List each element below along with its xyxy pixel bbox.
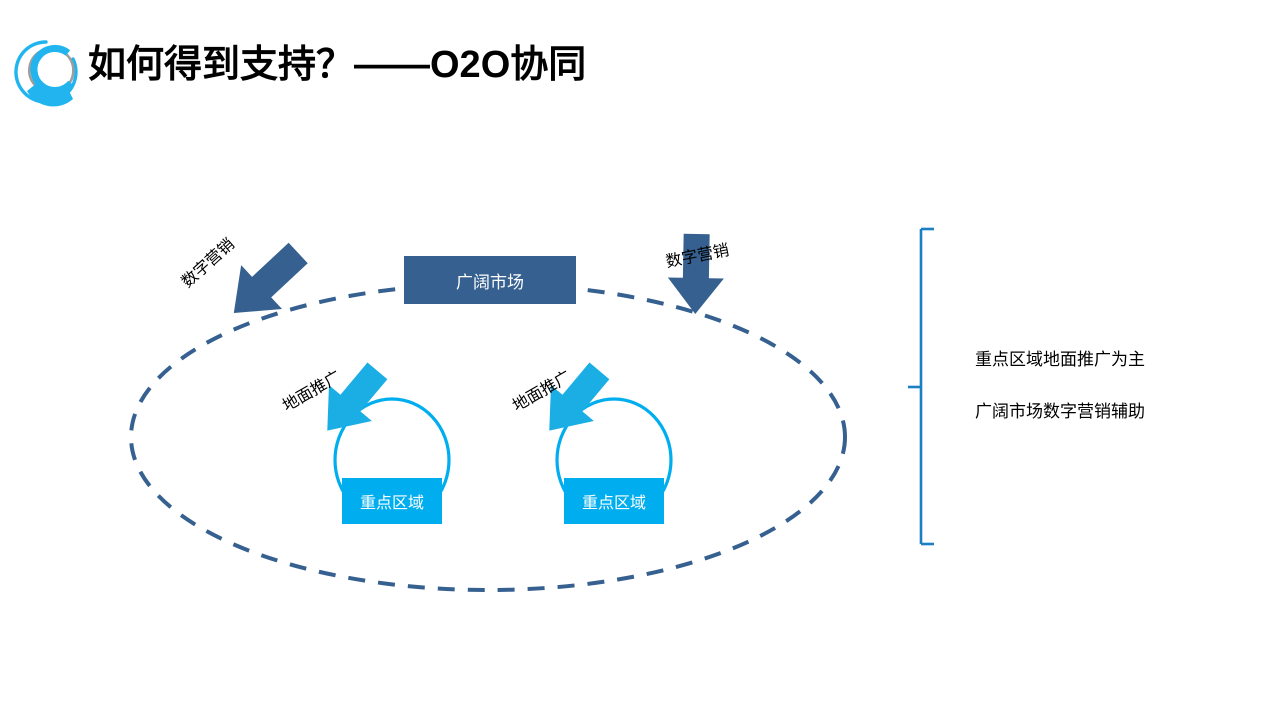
broad-market-ellipse: [131, 284, 845, 590]
annotation-brace: [908, 229, 934, 544]
key-region-box-1-label: 重点区域: [360, 489, 424, 513]
broad-market-box[interactable]: 广阔市场: [404, 256, 576, 304]
key-region-box-2[interactable]: 重点区域: [564, 478, 664, 524]
key-region-box-2-label: 重点区域: [582, 489, 646, 513]
key-region-box-1[interactable]: 重点区域: [342, 478, 442, 524]
annotation-line-1: 重点区域地面推广为主: [975, 345, 1145, 370]
annotation-line-2: 广阔市场数字营销辅助: [975, 397, 1145, 422]
slide-canvas: 如何得到支持？——O2O协同: [0, 0, 1280, 720]
broad-market-box-label: 广阔市场: [456, 268, 524, 293]
